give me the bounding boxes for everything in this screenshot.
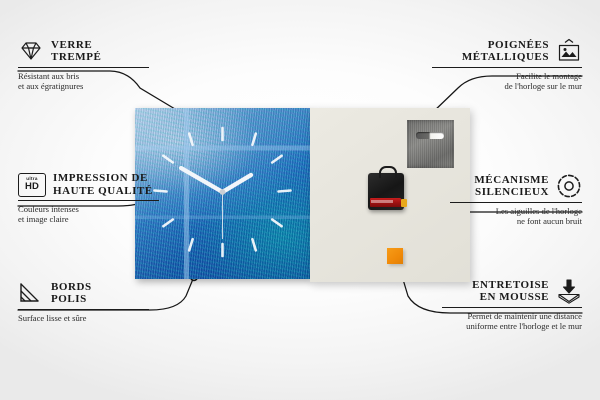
callout-verre-trempe: VERRE TREMPÉ Résistant aux bris et aux é… <box>18 38 168 92</box>
clock-hands <box>181 168 251 239</box>
callout-divider <box>18 309 149 310</box>
callout-header: ENTRETOISE EN MOUSSE <box>442 278 582 304</box>
gear-icon <box>556 173 582 199</box>
callout-title: VERRE TREMPÉ <box>51 39 101 64</box>
callout-divider <box>432 67 582 68</box>
ultra-hd-icon: ultra HD <box>18 173 46 197</box>
foam-spacer-pad <box>387 248 403 264</box>
metal-hanger-plate <box>407 120 454 168</box>
callout-header: POIGNÉES MÉTALLIQUES <box>432 38 582 64</box>
ultra-hd-main-text: HD <box>25 182 39 192</box>
hanger-loop-icon <box>379 166 397 178</box>
callout-bords-polis: BORDS POLIS Surface lisse et sûre <box>18 280 168 323</box>
callout-impression-haute-qualite: ultra HD IMPRESSION DE HAUTE QUALITÉ Cou… <box>18 172 178 225</box>
callout-subtitle: Facilite le montage de l'horloge sur le … <box>432 71 582 92</box>
polished-edge-icon <box>18 280 44 306</box>
callout-header: ultra HD IMPRESSION DE HAUTE QUALITÉ <box>18 172 178 197</box>
hour-hand <box>223 175 252 192</box>
battery-label <box>371 200 393 203</box>
callout-mecanisme-silencieux: MÉCANISME SILENCIEUX Les aiguilles de l'… <box>450 173 582 227</box>
callout-title: ENTRETOISE EN MOUSSE <box>472 279 549 304</box>
clock-movement <box>368 173 404 210</box>
callout-title: MÉCANISME SILENCIEUX <box>474 174 549 199</box>
callout-title: POIGNÉES MÉTALLIQUES <box>462 39 549 64</box>
callout-subtitle: Résistant aux bris et aux égratignures <box>18 71 168 92</box>
callout-subtitle: Couleurs intenses et image claire <box>18 204 178 225</box>
callout-title: IMPRESSION DE HAUTE QUALITÉ <box>53 172 153 197</box>
infographic-canvas: VERRE TREMPÉ Résistant aux bris et aux é… <box>0 0 600 400</box>
callout-divider <box>18 67 149 68</box>
callout-header: MÉCANISME SILENCIEUX <box>450 173 582 199</box>
callout-divider <box>442 307 582 308</box>
callout-subtitle: Les aiguilles de l'horloge ne font aucun… <box>450 206 582 227</box>
diamond-icon <box>18 38 44 64</box>
callout-header: BORDS POLIS <box>18 280 168 306</box>
callout-entretoise-en-mousse: ENTRETOISE EN MOUSSE Permet de maintenir… <box>442 278 582 332</box>
callout-divider <box>18 200 159 201</box>
keyhole-slot-icon <box>416 132 444 139</box>
hand-cap <box>220 189 226 195</box>
callout-header: VERRE TREMPÉ <box>18 38 168 64</box>
callout-divider <box>450 202 582 203</box>
battery-plus-terminal <box>401 199 407 207</box>
callout-subtitle: Surface lisse et sûre <box>18 313 168 323</box>
clock-back-panel <box>310 108 470 282</box>
foam-spacer-icon <box>556 278 582 304</box>
callout-title: BORDS POLIS <box>51 281 92 306</box>
callout-subtitle: Permet de maintenir une distance uniform… <box>442 311 582 332</box>
callout-poignees-metalliques: POIGNÉES MÉTALLIQUES Facilite le montage… <box>432 38 582 92</box>
minute-hand <box>181 168 223 192</box>
battery <box>370 198 401 207</box>
picture-hanger-icon <box>556 38 582 64</box>
